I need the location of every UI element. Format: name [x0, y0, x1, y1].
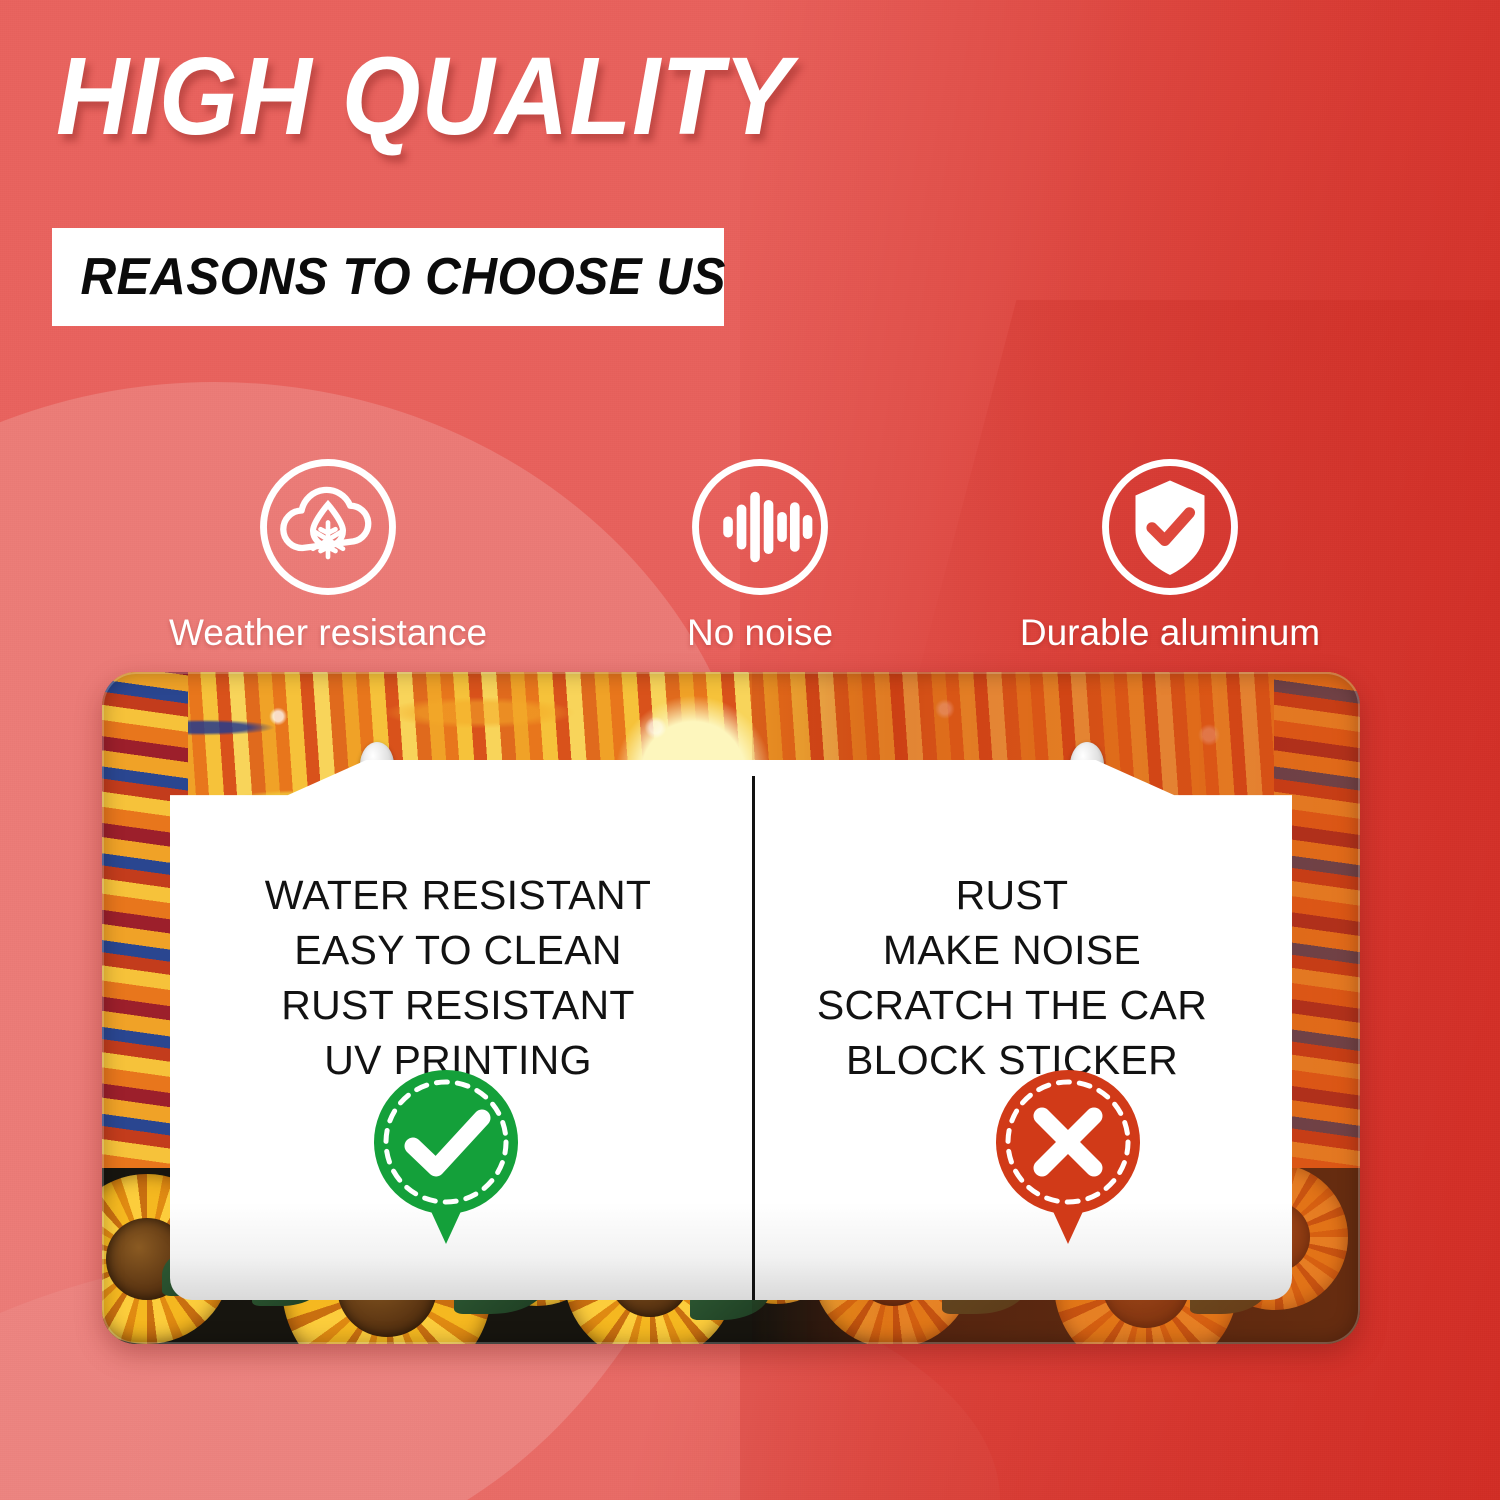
feature-no-noise: No noise [610, 452, 910, 653]
feature-row: Weather resistance No noise [0, 452, 1500, 662]
cons-column: RUST MAKE NOISE SCRATCH THE CAR BLOCK ST… [732, 868, 1292, 1088]
shield-check-icon [1095, 452, 1245, 602]
sound-wave-icon [685, 452, 835, 602]
pros-column: WATER RESISTANT EASY TO CLEAN RUST RESIS… [178, 868, 738, 1088]
pros-item: EASY TO CLEAN [178, 923, 738, 978]
product-infographic: HIGH QUALITY REASONS TO CHOOSE US [0, 0, 1500, 1500]
subtitle-banner: REASONS TO CHOOSE US [52, 228, 724, 326]
pros-item: RUST RESISTANT [178, 978, 738, 1033]
pros-item: WATER RESISTANT [178, 868, 738, 923]
page-title: HIGH QUALITY [56, 42, 792, 152]
cloud-droplet-snowflake-icon [253, 452, 403, 602]
feature-weather-resistance: Weather resistance [78, 452, 578, 653]
feature-label: Weather resistance [78, 614, 578, 653]
feature-durable-aluminum: Durable aluminum [940, 452, 1400, 653]
feature-label: No noise [610, 614, 910, 653]
cons-item: SCRATCH THE CAR [732, 978, 1292, 1033]
check-badge-icon [372, 1068, 520, 1246]
cons-item: RUST [732, 868, 1292, 923]
subtitle-text: REASONS TO CHOOSE US [52, 247, 726, 307]
license-plate-frame: WATER RESISTANT EASY TO CLEAN RUST RESIS… [102, 672, 1360, 1344]
cons-item: MAKE NOISE [732, 923, 1292, 978]
cross-badge-icon [994, 1068, 1142, 1246]
feature-label: Durable aluminum [940, 614, 1400, 653]
